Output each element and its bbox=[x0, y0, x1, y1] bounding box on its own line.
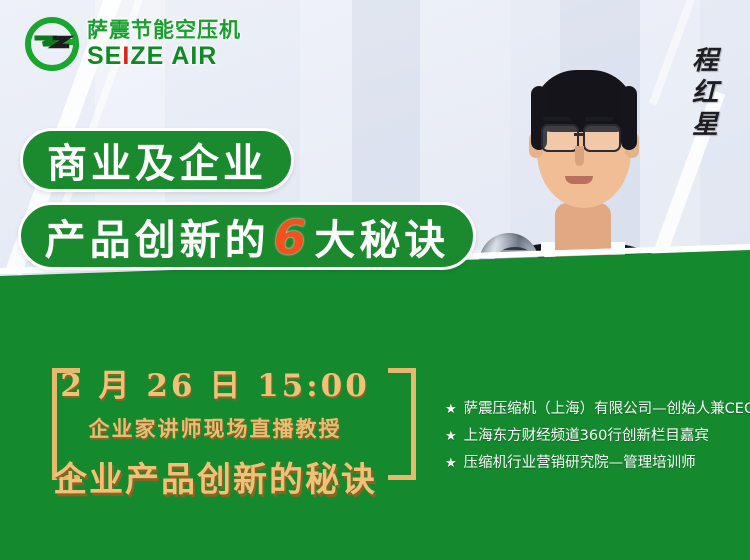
seize-air-emblem-icon bbox=[24, 16, 80, 72]
list-item: ★ 萨震压缩机（上海）有限公司—创始人兼CEO bbox=[445, 396, 745, 423]
headline-line-2-after: 大秘诀 bbox=[314, 216, 449, 264]
headline-line-2-before: 产品创新的 bbox=[45, 216, 270, 264]
event-datetime-row: 2 月 26 日 15:00 bbox=[0, 360, 430, 405]
list-item: ★ 上海东方财经频道360行创新栏目嘉宾 bbox=[445, 423, 745, 450]
promo-banner: 萨震节能空压机 SEIZE AIR 商业及企业 产品创新的6大秘诀 程 红 星 … bbox=[0, 0, 750, 560]
brand-name-en: SEIZE AIR bbox=[87, 44, 241, 69]
event-topic: 企业产品创新的秘诀 bbox=[53, 452, 377, 501]
event-subtitle-row: 企业家讲师现场直播教授 bbox=[0, 405, 430, 443]
list-item: ★ 压缩机行业营销研究院—管理培训师 bbox=[445, 450, 745, 477]
eyeglasses-lens-right bbox=[583, 124, 621, 152]
event-datetime: 2 月 26 日 15:00 bbox=[60, 360, 370, 405]
headline-line-2: 产品创新的6大秘诀 bbox=[45, 206, 450, 266]
headline-pill-1: 商业及企业 bbox=[20, 128, 294, 192]
nose-shape bbox=[575, 146, 584, 166]
event-info-block: 2 月 26 日 15:00 企业家讲师现场直播教授 企业产品创新的秘诀 bbox=[0, 360, 430, 501]
speaker-name-char-3: 星 bbox=[692, 112, 718, 138]
event-topic-row: 企业产品创新的秘诀 bbox=[0, 443, 430, 501]
hair-side-right bbox=[621, 86, 637, 150]
star-icon: ★ bbox=[445, 423, 457, 450]
credential-text: 萨震压缩机（上海）有限公司—创始人兼CEO bbox=[464, 396, 750, 423]
star-icon: ★ bbox=[445, 396, 457, 423]
brand-name-en-part2: ZE AIR bbox=[130, 42, 217, 70]
event-subtitle: 企业家讲师现场直播教授 bbox=[89, 413, 342, 443]
brand-name-cn: 萨震节能空压机 bbox=[87, 20, 241, 41]
eyeglasses-bridge bbox=[574, 133, 585, 136]
speaker-name-char-1: 程 bbox=[692, 48, 718, 74]
eyebrow-left bbox=[543, 117, 571, 121]
eyeglasses-lens-left bbox=[541, 124, 579, 152]
credential-text: 上海东方财经频道360行创新栏目嘉宾 bbox=[464, 423, 709, 450]
brand-logo-text: 萨震节能空压机 SEIZE AIR bbox=[87, 20, 241, 69]
headline-number: 6 bbox=[270, 211, 315, 266]
star-icon: ★ bbox=[445, 450, 457, 477]
hair-shape bbox=[533, 70, 635, 132]
mouth-shape bbox=[565, 176, 593, 184]
headline-pill-2: 产品创新的6大秘诀 bbox=[18, 202, 476, 270]
brand-name-en-part1: SE bbox=[87, 42, 122, 70]
headline-line-1: 商业及企业 bbox=[47, 131, 267, 189]
credential-text: 压缩机行业营销研究院—管理培训师 bbox=[464, 450, 696, 477]
credentials-list: ★ 萨震压缩机（上海）有限公司—创始人兼CEO ★ 上海东方财经频道360行创新… bbox=[445, 396, 745, 477]
speaker-name-calligraphy: 程 红 星 bbox=[682, 48, 728, 138]
eyebrow-right bbox=[585, 117, 613, 121]
brand-logo[interactable]: 萨震节能空压机 SEIZE AIR bbox=[24, 16, 241, 72]
speaker-name-char-2: 红 bbox=[692, 80, 718, 106]
